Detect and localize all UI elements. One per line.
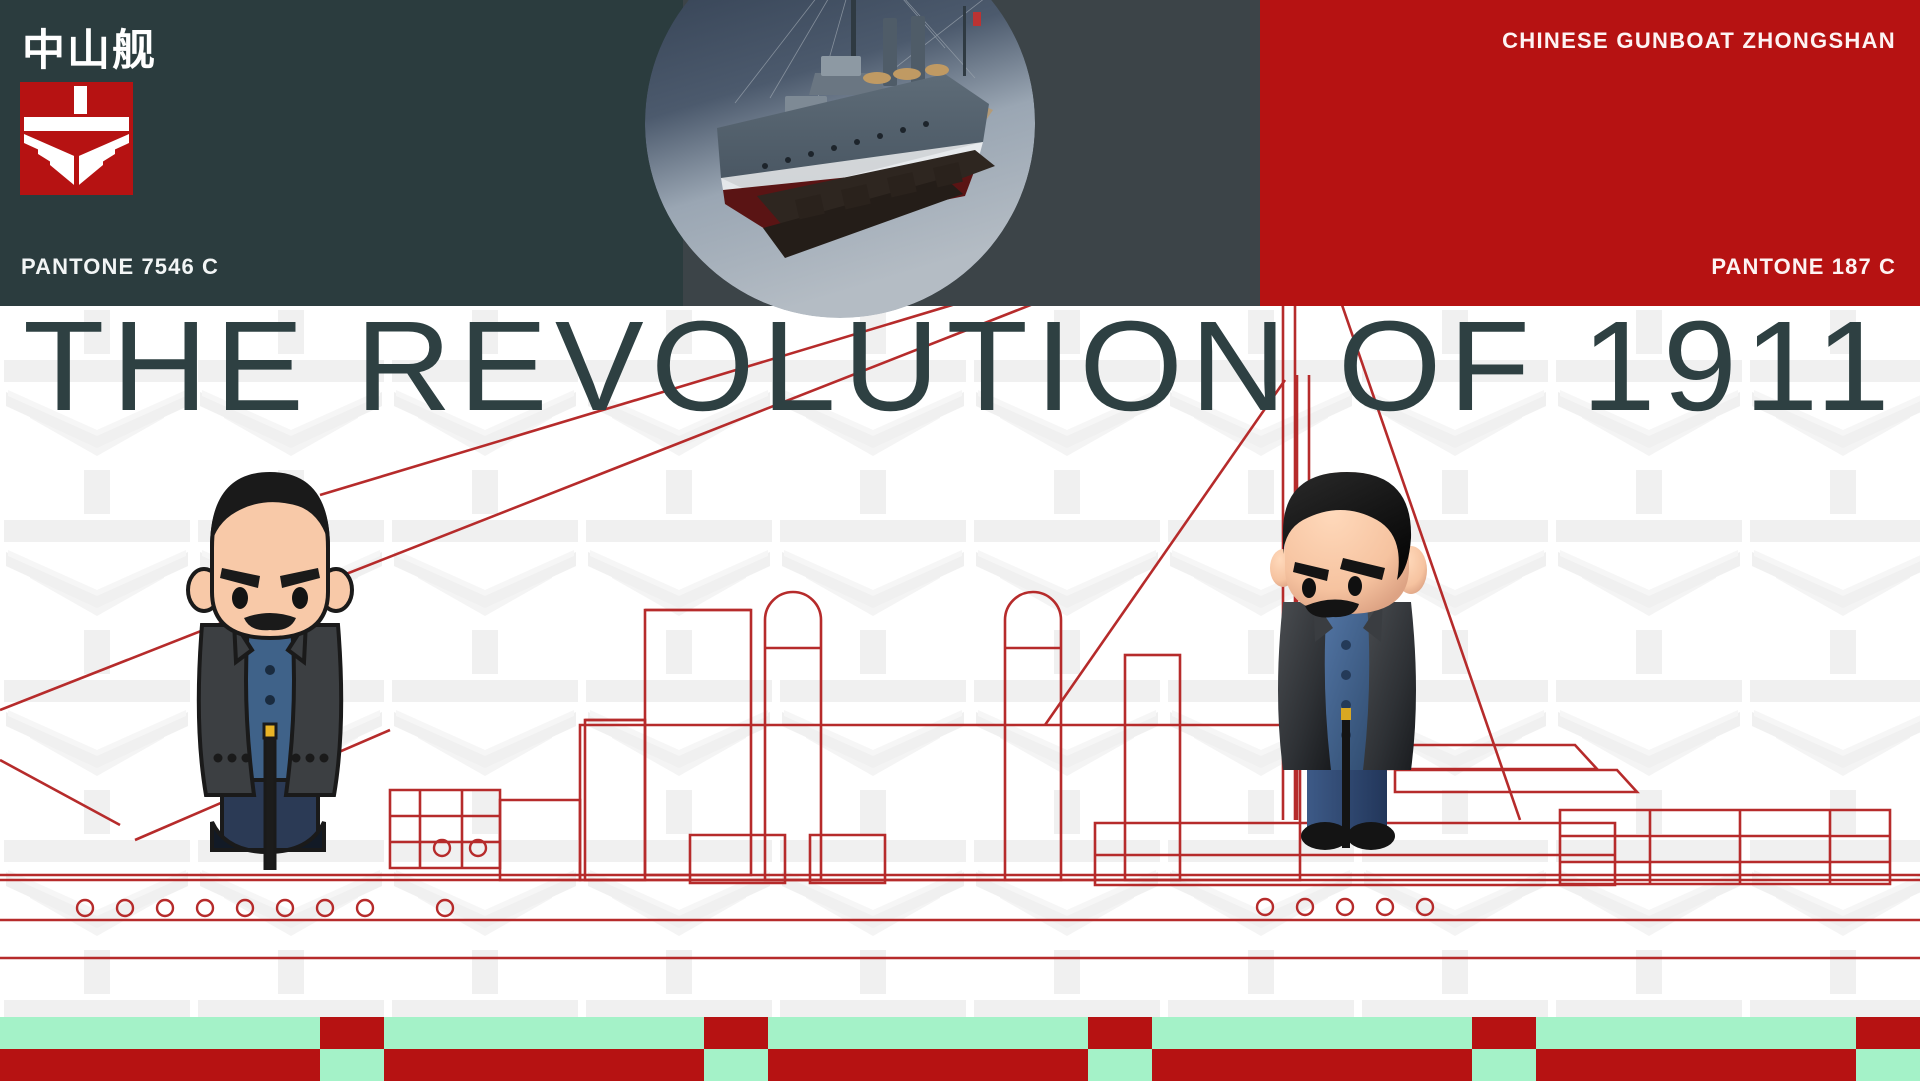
pantone-right-label: PANTONE 187 C [1711,254,1896,280]
page-title: THE REVOLUTION OF 1911 [0,302,1920,432]
chinese-ship-name: 中山舰 [22,16,157,78]
zhongshan-naval-emblem [20,82,133,195]
mint-red-checker-strip [0,1017,1920,1081]
brand-label: CHINESE GUNBOAT ZHONGSHAN [1502,28,1896,54]
character-right-sun-yat-sen-3d [1255,470,1440,850]
pantone-left-label: PANTONE 7546 C [21,254,219,280]
poster-canvas: 中山舰 PANTONE 7546 C CHINESE GUNBOAT ZHONG… [0,0,1920,1081]
character-left-sun-yat-sen [160,470,380,870]
